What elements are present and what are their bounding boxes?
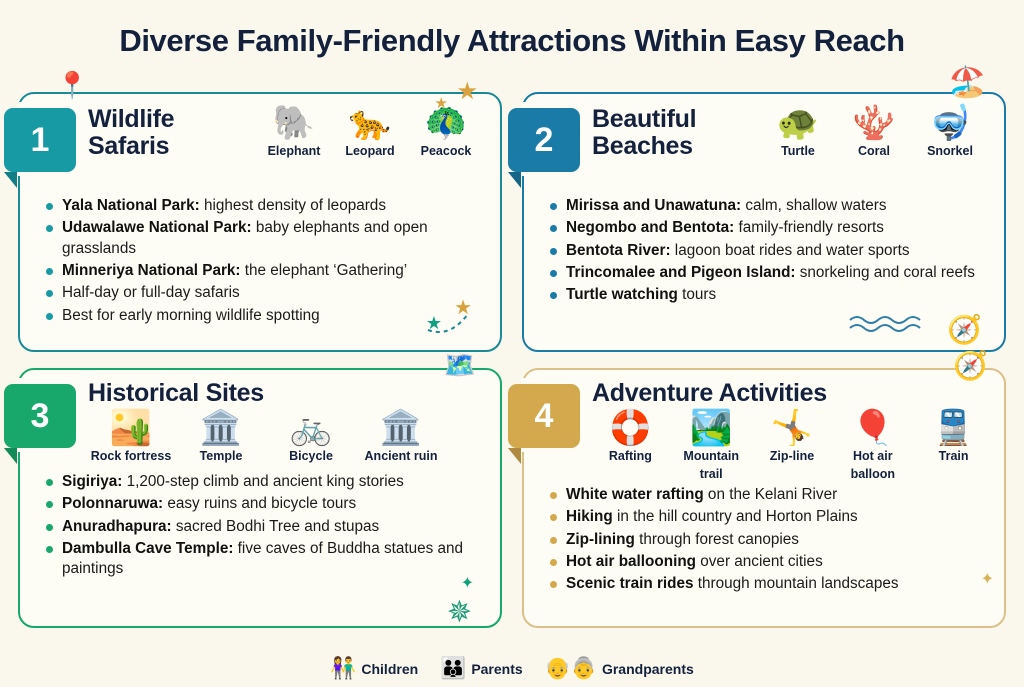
card-title-2: Beautiful Beaches <box>592 104 752 160</box>
peacock-icon: 🦚 <box>410 104 482 142</box>
icon-label-rafting: Rafting <box>609 449 652 463</box>
card-number-badge-2: 2 <box>508 108 580 172</box>
bullet-list-1: Yala National Park: highest density of l… <box>20 194 500 326</box>
list-item: Yala National Park: highest density of l… <box>44 196 486 216</box>
icon-row-2: 🐢 Turtle 🪸 Coral 🤿 Snorkel <box>762 104 992 160</box>
icon-label-turtle: Turtle <box>781 144 815 158</box>
icon-cell-turtle: 🐢 Turtle <box>762 104 834 160</box>
card-title-1: Wildlife Safaris <box>88 104 248 160</box>
icon-cell-hot-air-balloon: 🎈 Hot air balloon <box>834 409 911 483</box>
icon-row-4: 🛟 Rafting 🏞️ Mountain trail 🤸 Zip-line 🎈… <box>592 409 992 483</box>
icon-cell-rafting: 🛟 Rafting <box>592 409 669 483</box>
card-header-2: Beautiful Beaches 🐢 Turtle 🪸 Coral 🤿 Sno… <box>524 94 1004 194</box>
list-item: Mirissa and Unawatuna: calm, shallow wat… <box>548 196 990 216</box>
ancient-ruin-icon: 🏛️ <box>358 409 444 447</box>
icon-label-bicycle: Bicycle <box>289 449 333 463</box>
icon-cell-peacock: 🦚 Peacock <box>410 104 482 160</box>
legend-label-children: Children <box>361 661 418 677</box>
parents-icon: 👪 <box>440 658 466 679</box>
card-header-1: Wildlife Safaris 🐘 Elephant 🐆 Leopard 🦚 … <box>20 94 500 194</box>
card-number-2: 2 <box>535 123 554 157</box>
icon-label-zip-line: Zip-line <box>770 449 814 463</box>
icon-cell-leopard: 🐆 Leopard <box>334 104 406 160</box>
card-number-badge-4: 4 <box>508 384 580 448</box>
list-item: White water rafting on the Kelani River <box>548 485 990 505</box>
icon-cell-elephant: 🐘 Elephant <box>258 104 330 160</box>
card-title-4: Adventure Activities <box>592 380 992 407</box>
icon-cell-bicycle: 🚲 Bicycle <box>268 409 354 465</box>
icon-label-peacock: Peacock <box>421 144 472 158</box>
card-number-badge-3: 3 <box>4 384 76 448</box>
legend-item-parents: 👪 Parents <box>440 658 523 679</box>
train-icon: 🚆 <box>915 409 992 447</box>
card-number-badge-1: 1 <box>4 108 76 172</box>
list-item: Dambulla Cave Temple: five caves of Budd… <box>44 539 486 580</box>
legend-label-grandparents: Grandparents <box>602 661 694 677</box>
attraction-card-historical-sites: 3 Historical Sites 🏜️ Rock fortress 🏛️ T… <box>18 368 502 628</box>
list-item: Half-day or full-day safaris <box>44 283 486 303</box>
list-item: Hot air ballooning over ancient cities <box>548 552 990 572</box>
list-item: Sigiriya: 1,200-step climb and ancient k… <box>44 472 486 492</box>
snorkel-icon: 🤿 <box>914 104 986 142</box>
rock-fortress-icon: 🏜️ <box>88 409 174 447</box>
icon-row-1: 🐘 Elephant 🐆 Leopard 🦚 Peacock <box>258 104 488 160</box>
list-item: Scenic train rides through mountain land… <box>548 574 990 594</box>
icon-cell-ancient-ruin: 🏛️ Ancient ruin <box>358 409 444 465</box>
list-item: Anuradhapura: sacred Bodhi Tree and stup… <box>44 517 486 537</box>
compass-rose-icon: ✵ <box>447 598 472 628</box>
hot-air-balloon-icon: 🎈 <box>834 409 911 447</box>
turtle-icon: 🐢 <box>762 104 834 142</box>
card-title-3: Historical Sites <box>88 380 488 407</box>
bullet-list-4: White water rafting on the Kelani River … <box>524 483 1004 595</box>
attraction-cards-grid: 1 Wildlife Safaris 🐘 Elephant 🐆 Leopard … <box>14 86 1010 638</box>
legend-label-parents: Parents <box>471 661 522 677</box>
leopard-icon: 🐆 <box>334 104 406 142</box>
bicycle-icon: 🚲 <box>268 409 354 447</box>
list-item: Hiking in the hill country and Horton Pl… <box>548 507 990 527</box>
icon-label-temple: Temple <box>200 449 243 463</box>
list-item: Minneriya National Park: the elephant ‘G… <box>44 261 486 281</box>
list-item: Udawalawe National Park: baby elephants … <box>44 218 486 259</box>
legend-item-children: 👫 Children <box>330 658 418 679</box>
bullet-list-2: Mirissa and Unawatuna: calm, shallow wat… <box>524 194 1004 306</box>
card-number-1: 1 <box>31 123 50 157</box>
elephant-icon: 🐘 <box>258 104 330 142</box>
icon-label-snorkel: Snorkel <box>927 144 973 158</box>
grandparents-icon: 👴👵 <box>545 658 597 679</box>
icon-label-elephant: Elephant <box>268 144 321 158</box>
attraction-card-beautiful-beaches: 2 Beautiful Beaches 🐢 Turtle 🪸 Coral 🤿 <box>522 92 1006 352</box>
icon-row-3: 🏜️ Rock fortress 🏛️ Temple 🚲 Bicycle 🏛️ … <box>88 409 488 465</box>
icon-cell-mountain-trail: 🏞️ Mountain trail <box>673 409 750 483</box>
list-item: Turtle watching tours <box>548 285 990 305</box>
rafting-icon: 🛟 <box>592 409 669 447</box>
card-header-3: Historical Sites 🏜️ Rock fortress 🏛️ Tem… <box>20 370 500 470</box>
icon-label-mountain-trail: Mountain trail <box>683 449 739 481</box>
legend-item-grandparents: 👴👵 Grandparents <box>545 658 694 679</box>
icon-cell-snorkel: 🤿 Snorkel <box>914 104 986 160</box>
attraction-card-adventure-activities: 4 Adventure Activities 🛟 Rafting 🏞️ Moun… <box>522 368 1006 628</box>
page-title: Diverse Family-Friendly Attractions With… <box>0 0 1024 56</box>
list-item: Polonnaruwa: easy ruins and bicycle tour… <box>44 494 486 514</box>
icon-cell-zip-line: 🤸 Zip-line <box>754 409 831 483</box>
icon-label-ancient-ruin: Ancient ruin <box>365 449 438 463</box>
card-number-4: 4 <box>535 399 554 433</box>
bullet-list-3: Sigiriya: 1,200-step climb and ancient k… <box>20 470 500 580</box>
icon-label-train: Train <box>939 449 969 463</box>
mountain-trail-icon: 🏞️ <box>673 409 750 447</box>
footer-legend: 👫 Children 👪 Parents 👴👵 Grandparents <box>0 658 1024 679</box>
attraction-card-wildlife-safaris: 1 Wildlife Safaris 🐘 Elephant 🐆 Leopard … <box>18 92 502 352</box>
list-item: Best for early morning wildlife spotting <box>44 306 486 326</box>
list-item: Zip-lining through forest canopies <box>548 530 990 550</box>
list-item: Negombo and Bentota: family-friendly res… <box>548 218 990 238</box>
card-number-3: 3 <box>31 399 50 433</box>
zip-line-icon: 🤸 <box>754 409 831 447</box>
waves-icon <box>848 312 928 334</box>
icon-label-rock-fortress: Rock fortress <box>91 449 172 463</box>
list-item: Trincomalee and Pigeon Island: snorkelin… <box>548 263 990 283</box>
compass-icon: 🧭 <box>947 316 982 344</box>
icon-cell-rock-fortress: 🏜️ Rock fortress <box>88 409 174 465</box>
icon-cell-temple: 🏛️ Temple <box>178 409 264 465</box>
children-icon: 👫 <box>330 658 356 679</box>
coral-icon: 🪸 <box>838 104 910 142</box>
list-item: Bentota River: lagoon boat rides and wat… <box>548 241 990 261</box>
card-header-4: Adventure Activities 🛟 Rafting 🏞️ Mounta… <box>524 370 1004 483</box>
icon-cell-train: 🚆 Train <box>915 409 992 483</box>
icon-label-hot-air-balloon: Hot air balloon <box>851 449 895 481</box>
icon-label-coral: Coral <box>858 144 890 158</box>
temple-icon: 🏛️ <box>178 409 264 447</box>
icon-cell-coral: 🪸 Coral <box>838 104 910 160</box>
icon-label-leopard: Leopard <box>345 144 394 158</box>
